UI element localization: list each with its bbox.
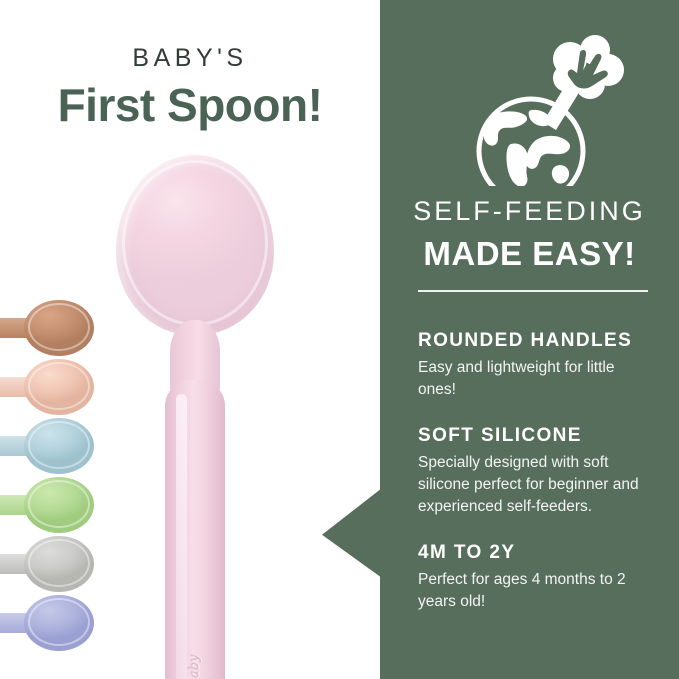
feature-item-soft-silicone: SOFT SILICONE Specially designed with so… xyxy=(418,425,654,518)
feature-title: 4M TO 2Y xyxy=(418,542,654,564)
page-title: First Spoon! xyxy=(0,78,380,132)
swatch-spoon-green xyxy=(0,477,94,533)
feature-list: ROUNDED HANDLES Easy and lightweight for… xyxy=(418,330,654,637)
swatch-spoon-grey xyxy=(0,536,94,592)
swatch-bowl xyxy=(24,477,94,533)
swatch-bowl xyxy=(24,595,94,651)
swatch-bowl xyxy=(24,536,94,592)
feature-body: Specially designed with soft silicone pe… xyxy=(418,452,654,518)
spoon-handle xyxy=(165,380,225,679)
eyebrow-text: BABY'S xyxy=(0,44,380,73)
swatch-spoon-tan xyxy=(0,300,94,356)
feature-body: Perfect for ages 4 months to 2 years old… xyxy=(418,569,654,613)
spoon-brand-emboss: upwardbaby xyxy=(170,660,220,679)
globe-sprout-icon xyxy=(380,26,679,186)
title-divider xyxy=(418,290,648,292)
swatch-spoon-periwinkle xyxy=(0,595,94,651)
spoon-brand-text: upwardbaby xyxy=(188,654,203,679)
main-spoon-image: upwardbaby xyxy=(108,155,283,650)
swatch-bowl xyxy=(24,359,94,415)
swatch-bowl xyxy=(24,418,94,474)
panel-title-line2: MADE EASY! xyxy=(380,235,679,273)
color-swatch-spoons xyxy=(0,300,94,655)
left-product-pane: BABY'S First Spoon! upwardbaby xyxy=(0,0,380,679)
swatch-spoon-peach xyxy=(0,359,94,415)
swatch-bowl xyxy=(24,300,94,356)
feature-title: SOFT SILICONE xyxy=(418,425,654,447)
feature-item-age-range: 4M TO 2Y Perfect for ages 4 months to 2 … xyxy=(418,542,654,613)
product-feature-graphic: BABY'S First Spoon! upwardbaby xyxy=(0,0,679,679)
swatch-spoon-blue xyxy=(0,418,94,474)
panel-title-line1: SELF-FEEDING xyxy=(380,196,679,227)
feature-title: ROUNDED HANDLES xyxy=(418,330,654,352)
spoon-bowl xyxy=(116,155,274,335)
feature-body: Easy and lightweight for little ones! xyxy=(418,357,654,401)
feature-item-rounded-handles: ROUNDED HANDLES Easy and lightweight for… xyxy=(418,330,654,401)
